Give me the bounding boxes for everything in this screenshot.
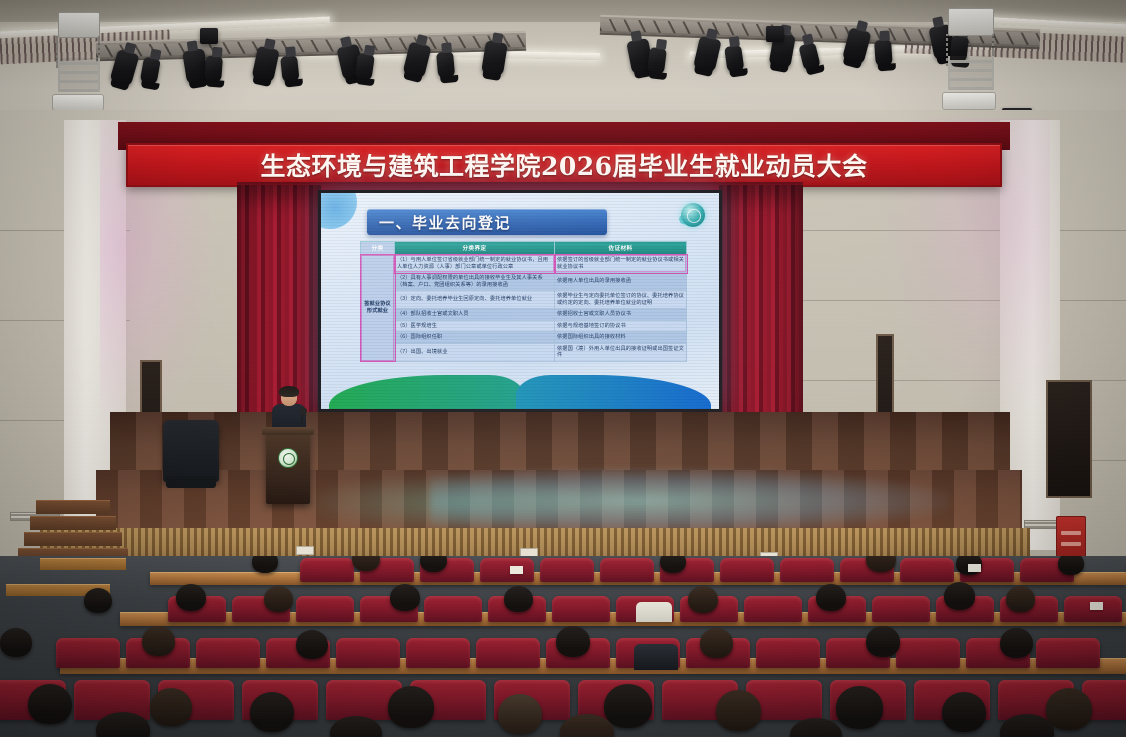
audience-member-head [942,692,986,732]
auditorium-seat[interactable] [424,596,482,622]
par-can-stage-light [436,51,455,79]
audience-member-head [150,688,192,726]
table-cell-definition: （5）医学规培生 [395,320,555,332]
table-cell-evidence: 依据招收士官或文职人员协议书 [555,309,687,321]
fire-hose-cabinet[interactable] [1056,516,1086,560]
auditorium-seat[interactable] [406,638,470,668]
audience-member-head [142,626,175,656]
slide-book-page-left [329,375,524,409]
ceiling-projector [942,92,996,110]
event-banner-text: 生态环境与建筑工程学院2026届毕业生就业动员大会 [260,147,867,183]
stage-armchair[interactable] [163,420,219,482]
auditorium-seat[interactable] [744,596,802,622]
audience-member-head [1000,628,1033,658]
auditorium-seat[interactable] [600,558,654,582]
table-row: （4）部队招收士官或文职人员 依据招收士官或文职人员协议书 [361,309,687,321]
audience-handout [1090,602,1103,610]
audience-member-head [700,628,733,658]
audience-handout [510,566,523,574]
slide-book-decoration [321,375,719,409]
auditorium-seat[interactable] [756,638,820,668]
scissor-lift-mount [58,12,100,38]
slide-book-page-right [516,375,711,409]
audience-member-head [388,686,434,728]
audience-member-head [390,584,420,611]
par-can-stage-light [724,45,745,74]
auditorium-seat[interactable] [300,558,354,582]
scissor-lift-mount [948,56,994,90]
stage-steps[interactable] [36,500,110,562]
auditorium-seat[interactable] [552,596,610,622]
audience-member-head [28,684,72,724]
table-cell-evidence: 依据签订的省级就业部门统一制定的就业协议书或相关就业协议书 [555,255,687,273]
audience-member-head [866,626,900,657]
table-cell-evidence: 依据用人单位出具的录用接收函 [555,273,687,291]
scissor-lift-mount [58,58,100,92]
stage-edge-outlet [296,546,314,555]
event-banner: 生态环境与建筑工程学院2026届毕业生就业动员大会 [126,143,1002,187]
audience-member-head [1006,586,1035,612]
audience-member-head [250,692,294,732]
table-cell-definition: （3）定向、委托培养毕业生回原定向、委托培养单位就业 [395,291,555,309]
auditorium-seat[interactable] [720,558,774,582]
side-exit-door[interactable] [1046,380,1092,498]
audience-member-head [498,694,542,734]
audience-handout [968,564,981,572]
audience-member-head [1046,688,1092,730]
graduation-destination-table: 分类 分类界定 佐证材料 签就业协议形式就业 （1）与用人单位签订省级就业部门统… [360,241,687,362]
table-row: （3）定向、委托培养毕业生回原定向、委托培养单位就业 依据毕业生与定向委托单位签… [361,291,687,309]
auditorium-scene: 生态环境与建筑工程学院2026届毕业生就业动员大会 一、毕业去向登记 分类 分类… [0,0,1126,737]
par-can-stage-light [204,55,223,83]
auditorium-seat[interactable] [336,638,400,668]
table-cell-evidence: 依据国（境）外用人单位出具的接收证明或出国签证文件 [555,343,687,361]
table-category-label: 签就业协议形式就业 [363,301,392,315]
audience-member-head [556,626,590,657]
table-header-evidence: 佐证材料 [555,242,687,255]
audience-member-head [604,684,652,728]
table-row: （7）出国、出境就业 依据国（境）外用人单位出具的接收证明或出国签证文件 [361,343,687,361]
audience-member-head [252,556,278,573]
table-header-category: 分类 [361,242,395,255]
auditorium-seat[interactable] [196,638,260,668]
audience-member-head [816,584,846,611]
presentation-slide: 一、毕业去向登记 分类 分类界定 佐证材料 签就业协议形式就业 （1）与用 [321,193,719,409]
auditorium-seat[interactable] [896,638,960,668]
fire-cabinet-label-line [1061,531,1081,535]
ceiling-projector [52,94,104,111]
wall-speaker [766,26,784,42]
table-header-row: 分类 分类界定 佐证材料 [361,242,687,255]
stage-step [24,532,122,546]
slide-title: 一、毕业去向登记 [367,209,607,235]
table-cell-evidence: 依据毕业生与定向委托单位签订的协议、委托培养协议或约定的定向、委托培养单位就业的… [555,291,687,309]
par-can-stage-light [874,39,893,67]
audience-member-head [944,582,975,610]
audience-member-head [688,586,718,613]
slide-corner-decoration [321,193,357,229]
stage-floor-rear [110,412,1010,474]
auditorium-seat[interactable] [476,638,540,668]
audience-member-head [264,586,293,612]
presenter-hair [279,386,299,397]
table-cell-evidence: 依据国际组织出具的接收材料 [555,332,687,344]
audience-member-head [1058,556,1084,575]
auditorium-seat[interactable] [900,558,954,582]
par-can-stage-light [280,55,300,84]
table-cell-definition: （7）出国、出境就业 [395,343,555,361]
table-row: （5）医学规培生 依据与规培基地签订的协议书 [361,320,687,332]
table-cell-definition: （6）国际组织任职 [395,332,555,344]
audience-member-head [0,628,32,657]
audience-member-head [716,690,761,731]
audience-desk-row [40,558,126,570]
audience-seating-area [0,556,1126,737]
table-cell-evidence: 依据与规培基地签订的协议书 [555,320,687,332]
fire-cabinet-label-line [1061,542,1081,546]
table-row: （2）具有人事调配权限的单位出具的接收毕业生及其人事关系（档案、户口、党团组织关… [361,273,687,291]
table-header-definition: 分类界定 [395,242,555,255]
auditorium-seat[interactable] [56,638,120,668]
audience-member-head [176,584,206,611]
table-cell-definition: （2）具有人事调配权限的单位出具的接收毕业生及其人事关系（档案、户口、党团组织关… [395,273,555,291]
podium [266,432,310,504]
slide-title-text: 一、毕业去向登记 [379,212,511,233]
scissor-lift-mount [948,8,994,36]
audience-member-head [660,556,686,573]
audience-member-torso [636,602,672,622]
table-cell-definition: （4）部队招收士官或文职人员 [395,309,555,321]
auditorium-seat[interactable] [480,558,534,582]
table-cell-definition: （1）与用人单位签订省级就业部门统一制定的就业协议书，且用人单位人力资源（人事）… [395,255,555,273]
globe-icon [677,201,711,231]
led-presentation-screen: 一、毕业去向登记 分类 分类界定 佐证材料 签就业协议形式就业 （1）与用 [318,190,722,412]
table-row: 签就业协议形式就业 （1）与用人单位签订省级就业部门统一制定的就业协议书，且用人… [361,255,687,273]
audience-member-head [504,586,533,612]
stage-step [30,516,116,530]
auditorium-seat[interactable] [780,558,834,582]
stage-step [36,500,110,514]
auditorium-seat[interactable] [1036,638,1100,668]
audience-member-head [836,686,883,729]
audience-member-head [790,718,842,737]
table-row: （6）国际组织任职 依据国际组织出具的接收材料 [361,332,687,344]
institution-emblem-icon [278,448,298,468]
podium-top-surface [262,427,314,435]
wall-speaker [200,28,218,44]
stage-floor-screen-reflection [300,474,600,532]
audience-member-head [84,588,112,613]
table-cell-category: 签就业协议形式就业 [361,255,395,362]
auditorium-seat[interactable] [872,596,930,622]
globe-icon-ball [681,203,705,227]
auditorium-seat[interactable] [540,558,594,582]
audience-member-torso [634,644,678,670]
auditorium-seat[interactable] [296,596,354,622]
audience-member-head [296,630,328,659]
